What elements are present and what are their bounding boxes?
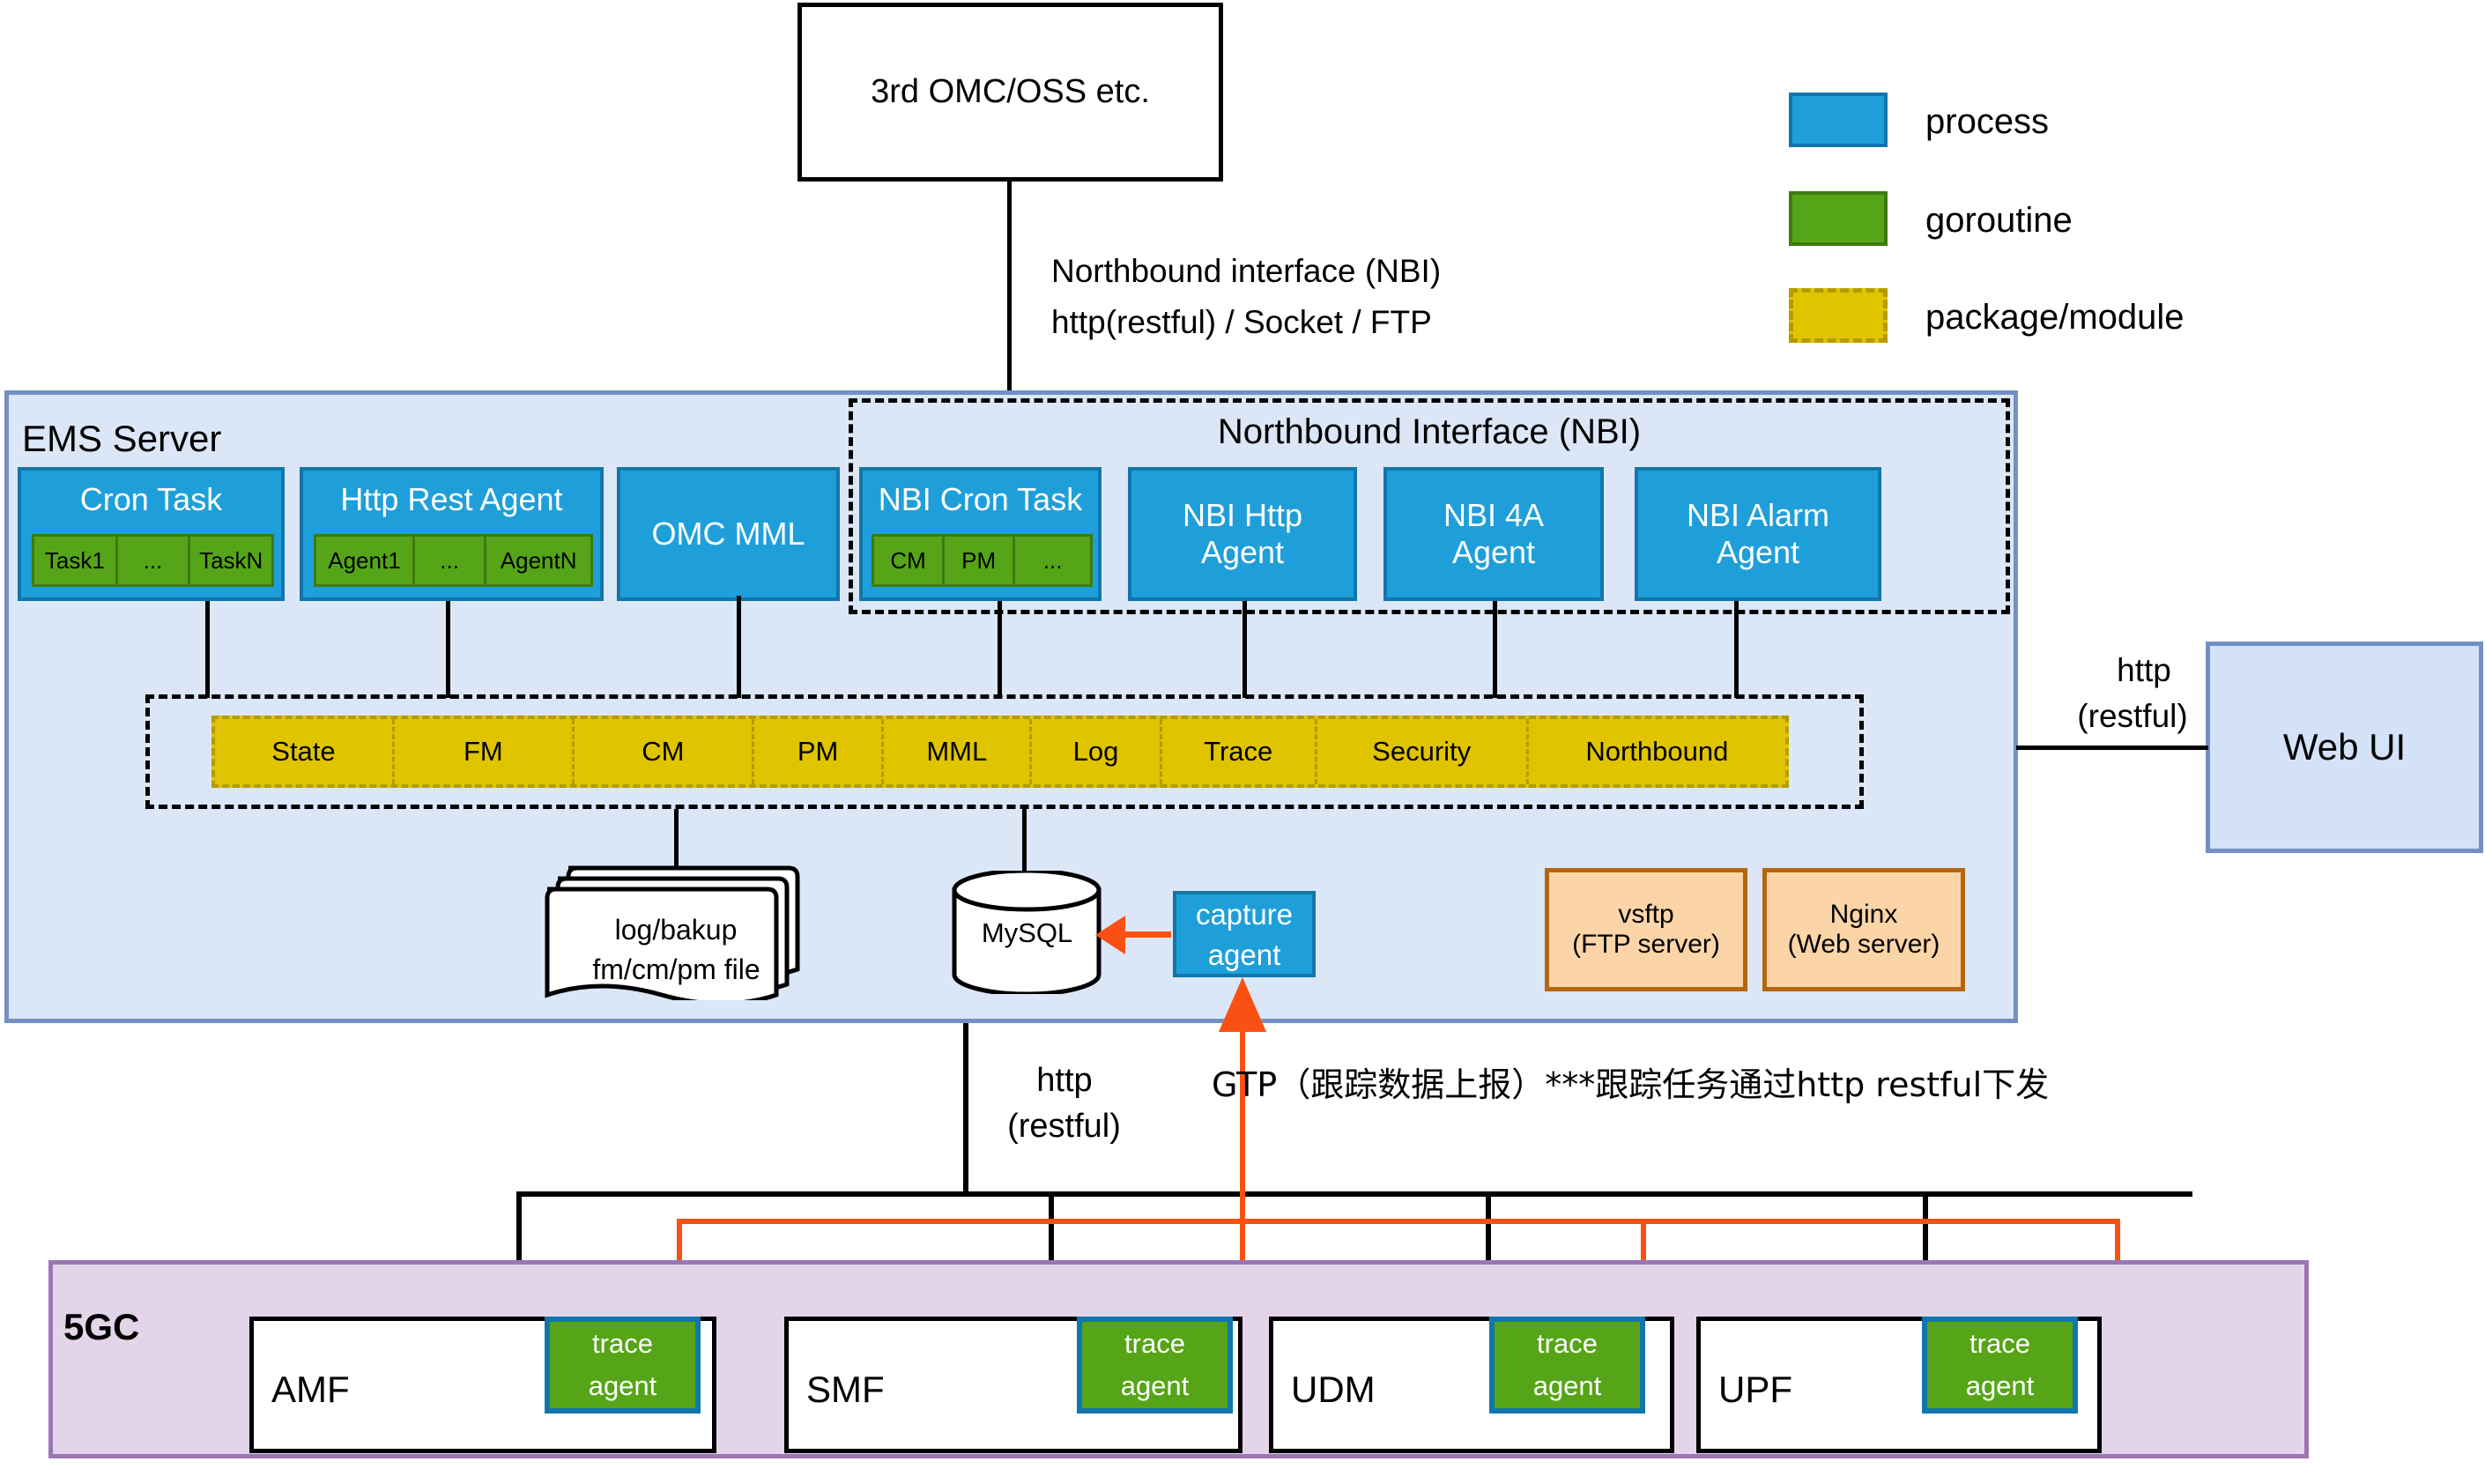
goroutine-group-nbi-cron-task: CM PM ... — [872, 534, 1093, 587]
process-http-rest-agent-label: Http Rest Agent — [303, 471, 600, 529]
capture-agent-label-line1: capture — [1176, 894, 1312, 935]
web-ui-panel[interactable]: Web UI — [2206, 642, 2483, 853]
legend-label-package-module: package/module — [1925, 295, 2185, 339]
server-nginx-label-line2: (Web server) — [1788, 930, 1940, 960]
module-log[interactable]: Log — [1032, 719, 1162, 784]
process-nbi-http-agent-label: NBI Http Agent — [1183, 497, 1302, 571]
connector-nbi-4a-agent — [1493, 601, 1497, 698]
goroutine-item[interactable]: ... — [415, 534, 486, 587]
http-restful-label-line1: http — [994, 1060, 1135, 1102]
legend-swatch-goroutine — [1789, 191, 1888, 246]
trace-agent-udm[interactable]: trace agent — [1489, 1317, 1645, 1414]
connector-cron-task — [205, 601, 210, 698]
goroutine-item[interactable]: ... — [118, 534, 191, 587]
module-pm[interactable]: PM — [754, 719, 885, 784]
process-nbi-alarm-agent-label: NBI Alarm Agent — [1687, 497, 1829, 571]
capture-to-mysql-line — [1122, 931, 1171, 938]
goroutine-item[interactable]: AgentN — [486, 534, 593, 587]
capture-to-mysql-arrowhead — [1095, 916, 1125, 954]
process-capture-agent[interactable]: capture agent — [1173, 891, 1316, 977]
goroutine-group-cron-task: Task1 ... TaskN — [32, 534, 274, 587]
http-trunk-horizontal — [516, 1191, 2192, 1197]
module-trace[interactable]: Trace — [1162, 719, 1317, 784]
http-trunk-vertical — [963, 1023, 968, 1196]
process-nbi-alarm-agent[interactable]: NBI Alarm Agent — [1635, 467, 1881, 601]
goroutine-item[interactable]: Task1 — [32, 534, 118, 587]
web-ui-label: Web UI — [2283, 726, 2406, 768]
module-cm[interactable]: CM — [575, 719, 754, 784]
connector-nbi-alarm-agent — [1734, 601, 1739, 698]
goroutine-item[interactable]: PM — [945, 534, 1015, 587]
legend-swatch-package-module — [1789, 288, 1888, 343]
third-party-omc-oss-box[interactable]: 3rd OMC/OSS etc. — [797, 3, 1223, 182]
gtp-trunk-arrowhead — [1219, 977, 1266, 1032]
nf-node-smf-label: SMF — [806, 1367, 885, 1414]
legend-swatch-process — [1789, 93, 1888, 147]
module-mml[interactable]: MML — [884, 719, 1032, 784]
module-bar: State FM CM PM MML Log Trace Security No… — [211, 716, 1789, 788]
trace-agent-udm-label-line1: trace — [1495, 1322, 1640, 1366]
module-state[interactable]: State — [215, 719, 395, 784]
connector-nbi-cron-task — [998, 601, 1002, 698]
trace-agent-upf-label-line1: trace — [1927, 1322, 2073, 1366]
webui-link-label-line1: http — [2082, 650, 2206, 691]
webui-connector-line — [2016, 746, 2208, 750]
module-northbound[interactable]: Northbound — [1529, 719, 1785, 784]
file-store-label-line2: fm/cm/pm file — [573, 952, 780, 987]
process-cron-task[interactable]: Cron Task Task1 ... TaskN — [18, 467, 285, 601]
goroutine-item[interactable]: TaskN — [190, 534, 274, 587]
connector-http-rest-agent — [446, 601, 450, 698]
module-security[interactable]: Security — [1317, 719, 1529, 784]
legend-label-goroutine: goroutine — [1925, 198, 2073, 242]
goroutine-item[interactable]: CM — [872, 534, 945, 587]
mysql-label: MySQL — [950, 916, 1104, 951]
process-cron-task-label: Cron Task — [21, 471, 281, 529]
nbi-group-title: Northbound Interface (NBI) — [849, 407, 2010, 456]
legend: process goroutine package/module — [1780, 84, 2397, 322]
server-vsftp[interactable]: vsftp (FTP server) — [1545, 868, 1747, 991]
ems-server-title: EMS Server — [22, 416, 221, 463]
third-party-omc-oss-label: 3rd OMC/OSS etc. — [871, 73, 1150, 111]
goroutine-group-http-rest-agent: Agent1 ... AgentN — [314, 534, 593, 587]
connector-nbi-http-agent — [1242, 601, 1247, 698]
server-vsftp-label-line1: vsftp — [1618, 900, 1673, 930]
goroutine-item[interactable]: Agent1 — [314, 534, 415, 587]
legend-label-process: process — [1925, 100, 2049, 144]
module-fm[interactable]: FM — [395, 719, 575, 784]
connector-mysql — [1022, 809, 1027, 871]
trace-agent-udm-label-line2: agent — [1495, 1366, 1640, 1406]
process-nbi-http-agent[interactable]: NBI Http Agent — [1128, 467, 1357, 601]
http-restful-label-line2: (restful) — [969, 1106, 1159, 1148]
gtp-bus-horizontal — [677, 1219, 2120, 1224]
trace-agent-smf-label-line2: agent — [1082, 1366, 1228, 1406]
mysql-database[interactable]: MySQL — [950, 871, 1104, 994]
webui-link-label-line2: (restful) — [2053, 696, 2212, 737]
capture-agent-label-line2: agent — [1176, 935, 1312, 976]
process-http-rest-agent[interactable]: Http Rest Agent Agent1 ... AgentN — [300, 467, 604, 601]
server-nginx-label-line1: Nginx — [1830, 900, 1898, 930]
trace-agent-upf[interactable]: trace agent — [1922, 1317, 2078, 1414]
gtp-note-label: GTP（跟踪数据上报）***跟踪任务通过http restful下发 — [1212, 1065, 2049, 1107]
process-nbi-cron-task-label: NBI Cron Task — [863, 471, 1098, 529]
process-omc-mml[interactable]: OMC MML — [617, 467, 840, 601]
trace-agent-smf-label-line1: trace — [1082, 1322, 1228, 1366]
process-nbi-4a-agent-label: NBI 4A Agent — [1443, 497, 1544, 571]
server-nginx[interactable]: Nginx (Web server) — [1762, 868, 1965, 991]
trace-agent-upf-label-line2: agent — [1927, 1366, 2073, 1406]
trace-agent-smf[interactable]: trace agent — [1077, 1317, 1233, 1414]
nbi-link-label-line2: http(restful) / Socket / FTP — [1051, 302, 1432, 343]
server-vsftp-label-line2: (FTP server) — [1572, 930, 1720, 960]
file-store-label-line1: log/bakup — [588, 912, 764, 947]
process-omc-mml-label: OMC MML — [652, 516, 805, 553]
process-nbi-4a-agent[interactable]: NBI 4A Agent — [1383, 467, 1604, 601]
nf-node-upf-label: UPF — [1718, 1367, 1792, 1414]
trace-agent-amf-label-line1: trace — [550, 1322, 695, 1366]
connector-omc-mml — [737, 596, 741, 698]
nbi-link-label-line1: Northbound interface (NBI) — [1051, 251, 1441, 292]
file-store-shape[interactable]: log/bakup fm/cm/pm file — [533, 859, 824, 1000]
trace-agent-amf-label-line2: agent — [550, 1366, 695, 1406]
trace-agent-amf[interactable]: trace agent — [545, 1317, 701, 1414]
goroutine-item[interactable]: ... — [1015, 534, 1093, 587]
process-nbi-cron-task[interactable]: NBI Cron Task CM PM ... — [859, 467, 1102, 601]
nf-node-amf-label: AMF — [271, 1367, 350, 1414]
fivegc-title: 5GC — [63, 1304, 139, 1351]
nf-node-udm-label: UDM — [1291, 1367, 1376, 1414]
